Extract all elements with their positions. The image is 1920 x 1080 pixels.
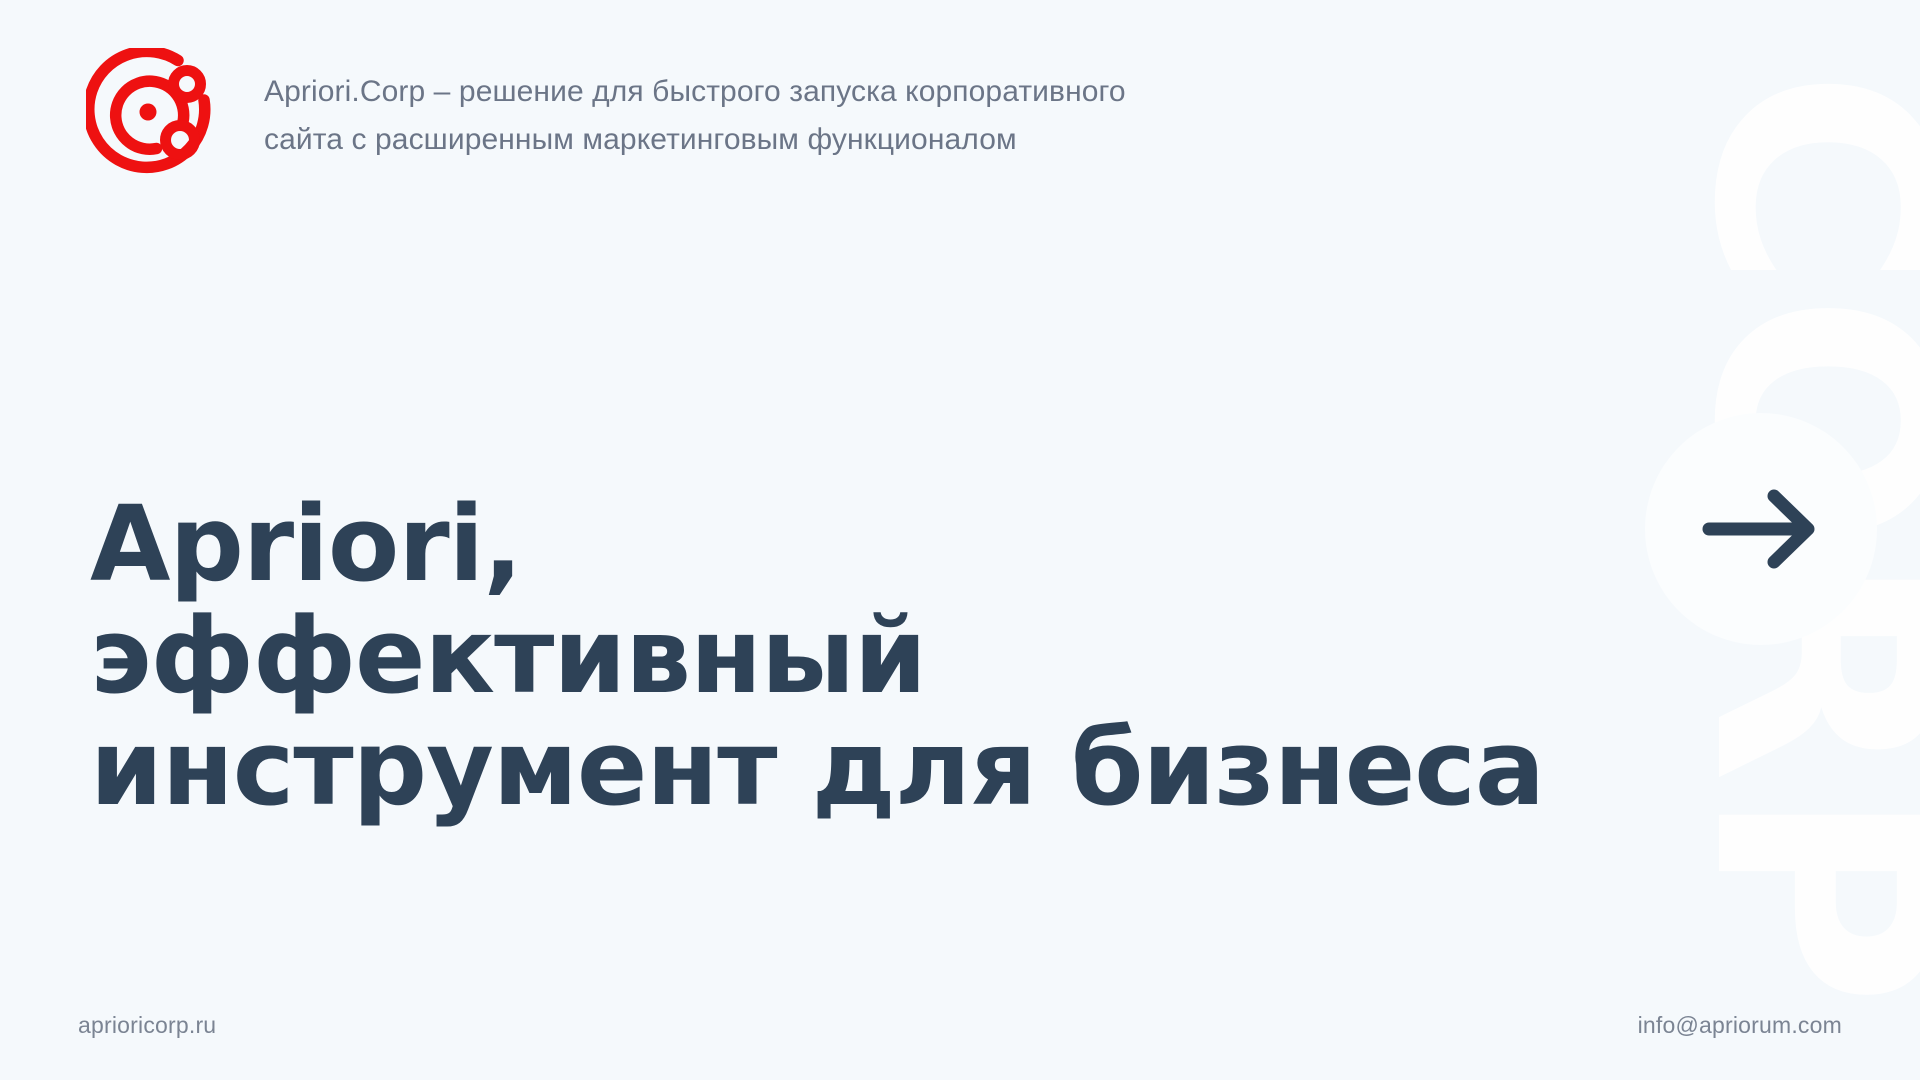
headline-line-2: эффективный bbox=[90, 600, 1544, 712]
slide-root: CORP Apriori.Corp – решение для быстрого… bbox=[0, 0, 1920, 1080]
headline-line-3: инструмент для бизнеса bbox=[90, 712, 1544, 824]
arrow-right-icon bbox=[1695, 482, 1827, 576]
header: Apriori.Corp – решение для быстрого запу… bbox=[86, 48, 1174, 180]
apriori-orbit-logo-icon bbox=[86, 48, 218, 180]
footer: aprioricorp.ru info@apriorum.com bbox=[0, 970, 1920, 1080]
page-title: Apriori, эффективный инструмент для бизн… bbox=[90, 488, 1544, 824]
header-tagline: Apriori.Corp – решение для быстрого запу… bbox=[264, 68, 1174, 164]
footer-website-link[interactable]: aprioricorp.ru bbox=[78, 1012, 216, 1039]
headline-line-1: Apriori, bbox=[90, 488, 1544, 600]
footer-email-link[interactable]: info@apriorum.com bbox=[1638, 1012, 1842, 1039]
next-slide-button[interactable] bbox=[1645, 413, 1877, 645]
